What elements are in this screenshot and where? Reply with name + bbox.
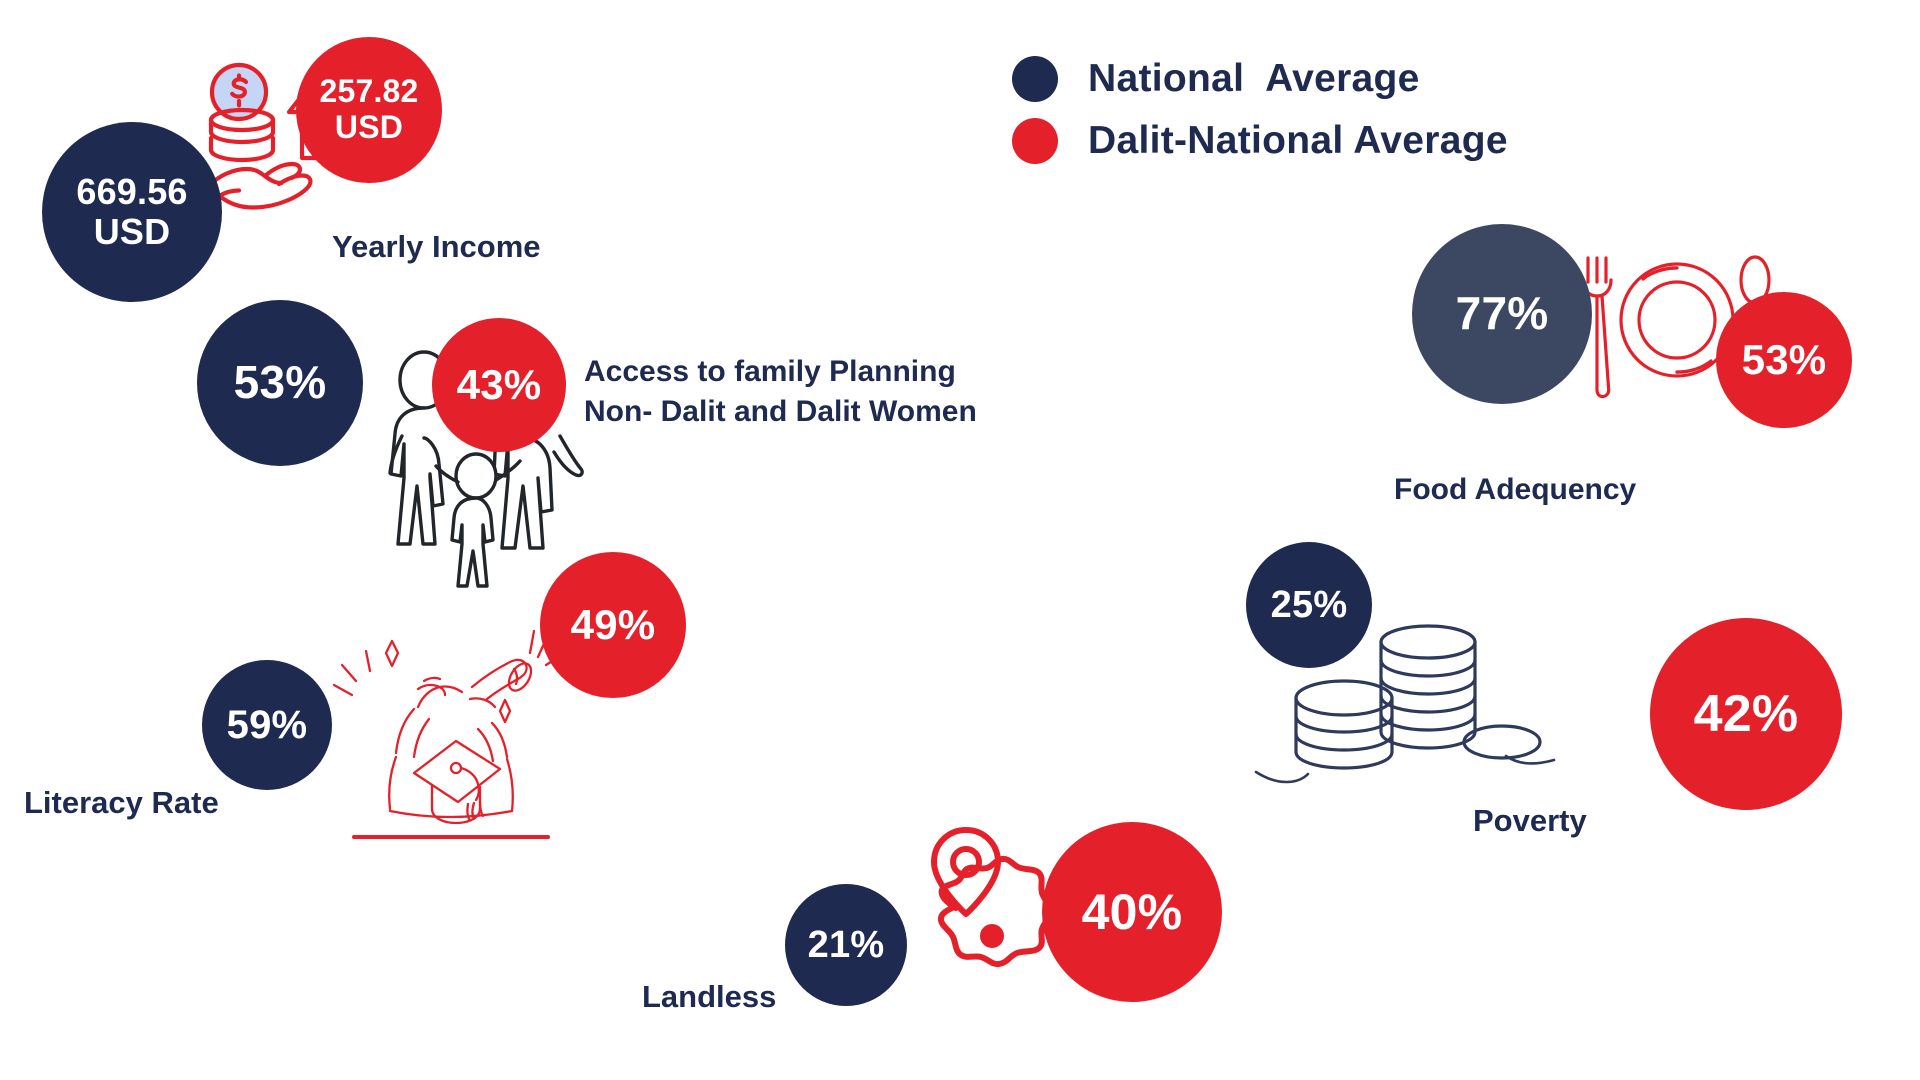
literacy-rate-national-bubble: 59% — [202, 660, 332, 790]
yearly-income-dalit-bubble: 257.82 USD — [296, 37, 442, 183]
food-adequency-national-bubble: 77% — [1412, 224, 1592, 404]
literacy-rate-dalit-value: 49% — [571, 601, 656, 648]
landless-label: Landless — [642, 978, 776, 1017]
yearly-income-label: Yearly Income — [332, 228, 541, 267]
poverty-dalit-bubble: 42% — [1650, 618, 1842, 810]
literacy-rate-dalit-bubble: 49% — [540, 552, 686, 698]
landless-dalit-value: 40% — [1082, 884, 1183, 940]
food-adequency-national-value: 77% — [1456, 288, 1549, 340]
legend-item-dalit-national-average: Dalit-National Average — [1012, 110, 1508, 172]
family-planning-dalit-bubble: 43% — [432, 318, 566, 452]
yearly-income-dalit-value: 257.82 — [319, 74, 418, 110]
legend: National Average Dalit-National Average — [1012, 48, 1508, 172]
food-adequency-dalit-bubble: 53% — [1716, 292, 1852, 428]
legend-item-national-average: National Average — [1012, 48, 1508, 110]
food-adequency-label: Food Adequency — [1394, 471, 1636, 509]
food-adequency-dalit-value: 53% — [1742, 336, 1827, 383]
landless-national-value: 21% — [808, 924, 885, 967]
family-planning-national-bubble: 53% — [197, 300, 363, 466]
yearly-income-national-value: 669.56 — [76, 172, 187, 212]
legend-label-dalit-national-average: Dalit-National Average — [1088, 119, 1508, 163]
family-planning-national-value: 53% — [234, 357, 327, 409]
yearly-income-national-unit: USD — [94, 212, 171, 252]
literacy-rate-national-value: 59% — [227, 703, 308, 748]
landless-national-bubble: 21% — [785, 884, 907, 1006]
legend-label-national-average: National Average — [1088, 57, 1420, 101]
infographic-canvas: National Average Dalit-National Average — [0, 0, 1920, 1080]
yearly-income-dalit-unit: USD — [335, 110, 403, 146]
poverty-national-bubble: 25% — [1246, 542, 1372, 668]
landless-dalit-bubble: 40% — [1042, 822, 1222, 1002]
yearly-income-national-bubble: 669.56 USD — [42, 122, 222, 302]
poverty-label: Poverty — [1473, 802, 1587, 841]
poverty-national-value: 25% — [1271, 584, 1348, 627]
literacy-rate-label: Literacy Rate — [24, 784, 219, 823]
circle-red-icon — [1012, 118, 1058, 164]
family-planning-label: Access to family Planning Non- Dalit and… — [584, 352, 977, 431]
poverty-dalit-value: 42% — [1694, 685, 1799, 743]
family-planning-dalit-value: 43% — [457, 361, 542, 408]
circle-navy-icon — [1012, 56, 1058, 102]
